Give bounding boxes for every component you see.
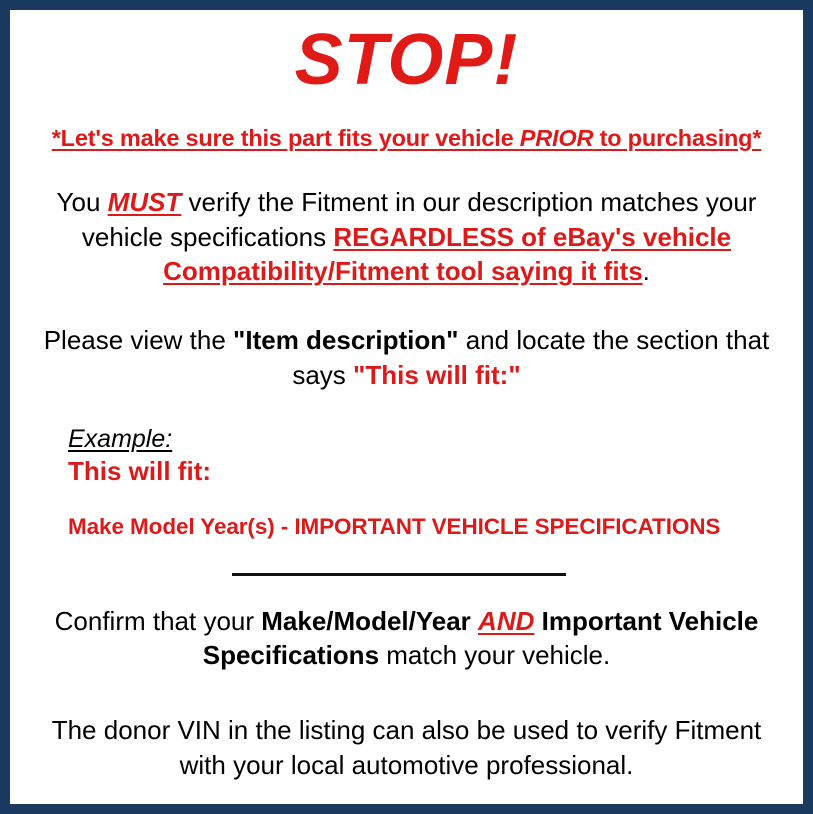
confirm-space-2: [534, 606, 541, 636]
paragraph-must-verify: You MUST verify the Fitment in our descr…: [24, 185, 789, 289]
subtitle-part2: to purchasing*: [593, 125, 761, 151]
must-tail-period: .: [643, 256, 650, 286]
example-label-row: Example:: [68, 426, 789, 454]
paragraph-donor-vin: The donor VIN in the listing can also be…: [24, 713, 789, 782]
example-label: Example:: [68, 426, 172, 454]
example-block: Example: This will fit: Make Model Year(…: [24, 426, 789, 540]
this-will-fit-label: "This will fit:": [353, 360, 521, 390]
divider-wrapper: [24, 570, 789, 580]
horizontal-divider: [232, 573, 566, 576]
example-fit-header: This will fit:: [68, 456, 789, 487]
notice-content: STOP! *Let's make sure this part fits yo…: [10, 24, 803, 814]
paragraph-item-description: Please view the "Item description" and l…: [24, 323, 789, 392]
must-lead-text: You: [57, 187, 108, 217]
subtitle-warning: *Let's make sure this part fits your veh…: [24, 124, 789, 152]
confirm-lead-text: Confirm that your: [55, 606, 262, 636]
item-description-label: "Item description": [233, 325, 458, 355]
subtitle-emphasis-prior: PRIOR: [520, 125, 593, 151]
fitment-notice-banner: STOP! *Let's make sure this part fits yo…: [0, 0, 813, 814]
subtitle-part1: *Let's make sure this part fits your veh…: [52, 125, 520, 151]
confirm-space-1: [471, 606, 478, 636]
paragraph-confirm: Confirm that your Make/Model/Year AND Im…: [24, 604, 789, 673]
confirm-tail-text: match your vehicle.: [379, 640, 610, 670]
confirm-and-emphasis: AND: [478, 606, 534, 636]
description-lead-text: Please view the: [44, 325, 233, 355]
page-title: STOP!: [24, 24, 789, 96]
must-emphasis: MUST: [108, 187, 182, 217]
confirm-make-model-year: Make/Model/Year: [261, 606, 471, 636]
example-spec-line: Make Model Year(s) - IMPORTANT VEHICLE S…: [68, 513, 789, 540]
